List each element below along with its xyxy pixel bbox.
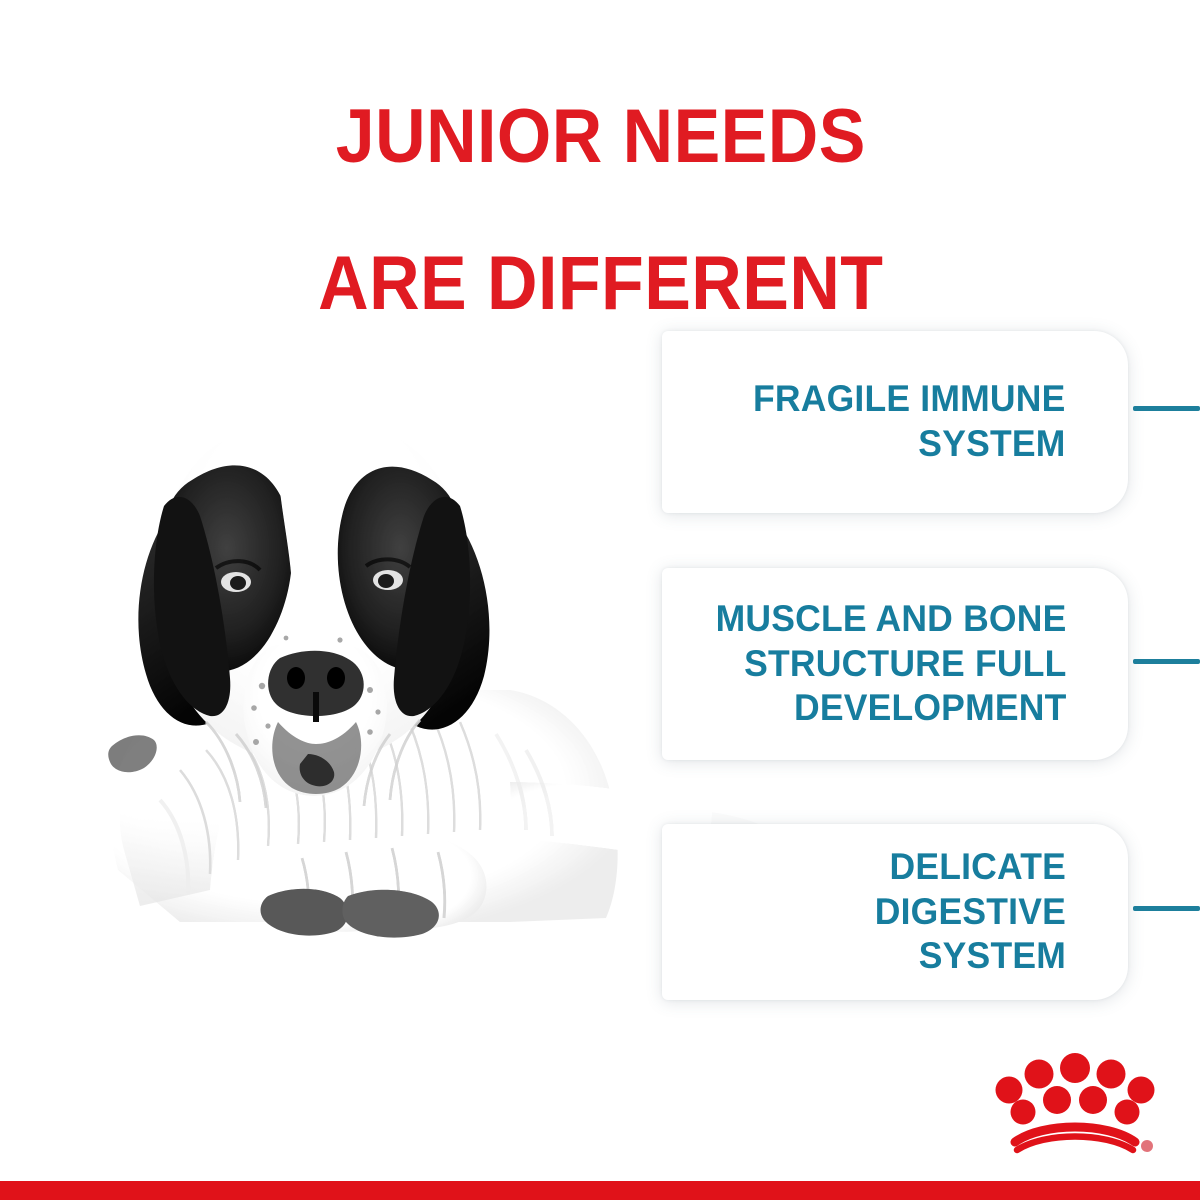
callout-delicate-digestive-system[interactable]: DELICATE DIGESTIVE SYSTEM [662,824,1128,1000]
junior-needs-infographic: JUNIOR NEEDS ARE DIFFERENT [0,0,1200,1200]
callout-label: MUSCLE AND BONE STRUCTURE FULL DEVELOPME… [715,597,1066,731]
page-title-line-2: ARE DIFFERENT [49,247,1153,321]
callout-connector-line-1 [1133,406,1200,411]
crown-dots [996,1053,1155,1125]
callout-label: DELICATE DIGESTIVE SYSTEM [703,845,1066,979]
bottom-brand-bar [0,1181,1200,1200]
registered-mark-icon [1141,1140,1153,1152]
callout-muscle-and-bone-structure[interactable]: MUSCLE AND BONE STRUCTURE FULL DEVELOPME… [662,568,1128,760]
callout-fragile-immune-system[interactable]: FRAGILE IMMUNE SYSTEM [662,331,1128,513]
crown-arc-lower [1017,1137,1133,1151]
callout-connector-line-3 [1133,906,1200,911]
callout-label: FRAGILE IMMUNE SYSTEM [754,377,1066,467]
callout-connector-line-2 [1133,659,1200,664]
royal-canin-crown-logo [995,1052,1155,1156]
page-title-line-1: JUNIOR NEEDS [49,100,1153,174]
